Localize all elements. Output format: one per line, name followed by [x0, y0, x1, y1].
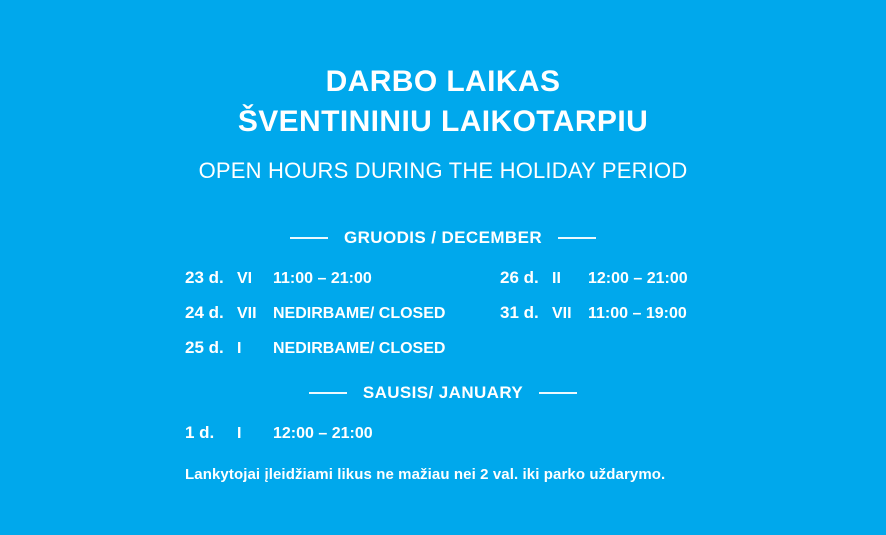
- table-row: 23 d. VI 11:00 – 21:00: [185, 268, 500, 303]
- section-header-december: GRUODIS / DECEMBER: [0, 228, 886, 248]
- schedule-january: 1 d. I 12:00 – 21:00: [0, 423, 886, 458]
- holiday-hours-poster: DARBO LAIKAS ŠVENTININIU LAIKOTARPIU OPE…: [0, 0, 886, 535]
- rule-left-icon: [309, 392, 347, 394]
- title-line-2: ŠVENTININIU LAIKOTARPIU: [0, 102, 886, 142]
- schedule-column-right: 26 d. II 12:00 – 21:00 31 d. VII 11:00 –…: [500, 268, 815, 373]
- row-weekday: I: [237, 340, 273, 358]
- section-label-december: GRUODIS / DECEMBER: [344, 228, 542, 248]
- table-row: 24 d. VII NEDIRBAME/ CLOSED: [185, 303, 500, 338]
- row-day: 26 d.: [500, 268, 552, 288]
- row-hours: 11:00 – 19:00: [588, 305, 687, 323]
- row-hours: 11:00 – 21:00: [273, 270, 372, 288]
- section-header-january: SAUSIS/ JANUARY: [0, 383, 886, 403]
- row-weekday: II: [552, 270, 588, 288]
- row-hours: NEDIRBAME/ CLOSED: [273, 340, 445, 358]
- row-hours: 12:00 – 21:00: [588, 270, 688, 288]
- row-day: 31 d.: [500, 303, 552, 323]
- admission-footnote: Lankytojai įleidžiami likus ne mažiau ne…: [185, 466, 665, 483]
- row-day: 24 d.: [185, 303, 237, 323]
- rule-left-icon: [290, 237, 328, 239]
- rule-right-icon: [558, 237, 596, 239]
- rule-right-icon: [539, 392, 577, 394]
- table-row: 25 d. I NEDIRBAME/ CLOSED: [185, 338, 500, 373]
- section-label-january: SAUSIS/ JANUARY: [363, 383, 523, 403]
- row-day: 1 d.: [185, 423, 237, 443]
- row-hours: NEDIRBAME/ CLOSED: [273, 305, 445, 323]
- schedule-column-left: 23 d. VI 11:00 – 21:00 24 d. VII NEDIRBA…: [185, 268, 500, 373]
- schedule-column-left: 1 d. I 12:00 – 21:00: [185, 423, 500, 458]
- title-line-1: DARBO LAIKAS: [0, 62, 886, 102]
- page-title: DARBO LAIKAS ŠVENTININIU LAIKOTARPIU: [0, 62, 886, 142]
- row-weekday: I: [237, 425, 273, 443]
- row-day: 25 d.: [185, 338, 237, 358]
- row-weekday: VII: [237, 305, 273, 323]
- schedule-december: 23 d. VI 11:00 – 21:00 24 d. VII NEDIRBA…: [0, 268, 886, 373]
- row-weekday: VI: [237, 270, 273, 288]
- table-row: 31 d. VII 11:00 – 19:00: [500, 303, 815, 338]
- table-row: 26 d. II 12:00 – 21:00: [500, 268, 815, 303]
- row-weekday: VII: [552, 305, 588, 323]
- row-hours: 12:00 – 21:00: [273, 425, 373, 443]
- page-subtitle: OPEN HOURS DURING THE HOLIDAY PERIOD: [0, 156, 886, 186]
- table-row: 1 d. I 12:00 – 21:00: [185, 423, 500, 458]
- row-day: 23 d.: [185, 268, 237, 288]
